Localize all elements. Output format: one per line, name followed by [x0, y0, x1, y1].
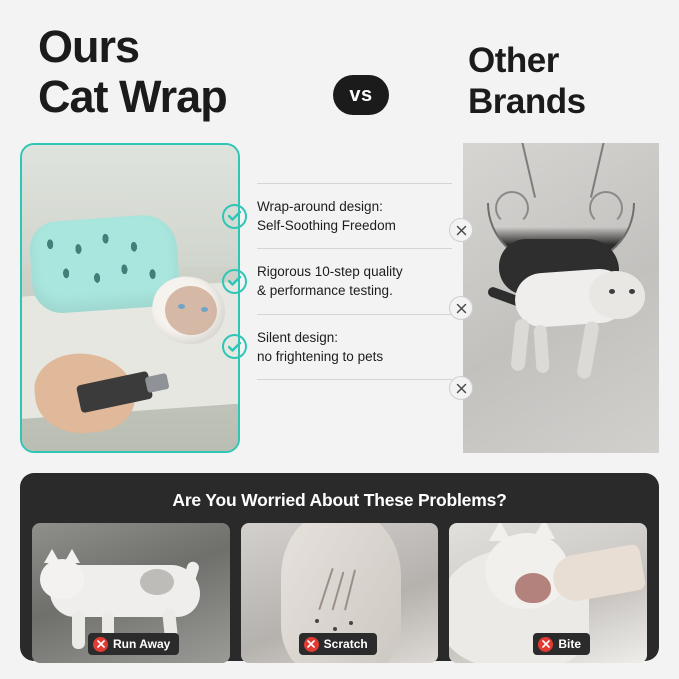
status-badge: Scratch: [299, 633, 377, 655]
problem-thumbnail: Bite: [449, 523, 647, 663]
skin-mark: [315, 619, 319, 623]
cat-head: [589, 271, 645, 319]
human-hand: [550, 544, 647, 605]
header: Ours Cat Wrap vs Other Brands: [0, 22, 679, 132]
cat-ear: [64, 549, 80, 563]
ours-title-line2: Cat Wrap: [38, 72, 227, 122]
divider: [257, 379, 452, 380]
cat-ear: [44, 549, 60, 563]
other-title-line2: Brands: [468, 81, 586, 122]
feature-line2: Self-Soothing Freedom: [257, 218, 396, 233]
feature-line2: & performance testing.: [257, 283, 393, 298]
x-circle-icon: [538, 637, 553, 652]
badge-label: Scratch: [324, 637, 368, 651]
x-circle-icon: [93, 637, 108, 652]
ours-product-photo: [20, 143, 240, 453]
x-circle-icon: [449, 296, 473, 320]
ours-title-line1: Ours: [38, 22, 227, 72]
feature-line1: Rigorous 10-step quality: [257, 264, 403, 279]
feature-item: Wrap-around design: Self-Soothing Freedo…: [222, 184, 454, 248]
feature-line1: Wrap-around design:: [257, 199, 383, 214]
vs-badge: vs: [333, 75, 389, 115]
problem-thumbnail: Run Away: [32, 523, 230, 663]
skin-mark: [349, 621, 353, 625]
feature-line2: no frightening to pets: [257, 349, 383, 364]
x-circle-icon: [304, 637, 319, 652]
skin-mark: [333, 627, 337, 631]
feature-item: Rigorous 10-step quality & performance t…: [222, 249, 454, 313]
check-circle-icon: [222, 204, 247, 229]
ours-title: Ours Cat Wrap: [38, 22, 227, 123]
badge-label: Run Away: [113, 637, 170, 651]
x-circle-icon: [449, 376, 473, 400]
problem-thumbnail: Scratch: [241, 523, 439, 663]
feature-text: Silent design: no frightening to pets: [257, 328, 383, 366]
cat-leg: [72, 611, 85, 649]
competitor-product-photo: [463, 143, 659, 453]
feature-list: Wrap-around design: Self-Soothing Freedo…: [222, 183, 454, 380]
cat-ear: [533, 523, 555, 539]
status-badge: Run Away: [88, 633, 179, 655]
cat-ear: [489, 523, 511, 541]
x-circle-icon: [449, 218, 473, 242]
feature-text: Rigorous 10-step quality & performance t…: [257, 262, 403, 300]
badge-label: Bite: [558, 637, 581, 651]
feature-text: Wrap-around design: Self-Soothing Freedo…: [257, 197, 396, 235]
problems-panel: Are You Worried About These Problems? Ru…: [20, 473, 659, 661]
other-title-line1: Other: [468, 40, 586, 81]
cat-head: [40, 559, 84, 599]
problem-thumbnails: Run Away Scratch: [32, 523, 647, 663]
feature-item: Silent design: no frightening to pets: [222, 315, 454, 379]
cat-eye-left: [609, 289, 615, 294]
status-badge: Bite: [533, 633, 590, 655]
cat-eye-right: [629, 289, 635, 294]
comparison-infographic: Ours Cat Wrap vs Other Brands Wrap-aroun…: [0, 0, 679, 679]
check-circle-icon: [222, 334, 247, 359]
cat-spot: [140, 569, 174, 595]
check-circle-icon: [222, 269, 247, 294]
other-brands-title: Other Brands: [468, 40, 586, 123]
problems-title: Are You Worried About These Problems?: [32, 490, 647, 511]
feature-line1: Silent design:: [257, 330, 338, 345]
cat-open-mouth: [515, 573, 551, 603]
cat-eye-left: [178, 304, 185, 309]
